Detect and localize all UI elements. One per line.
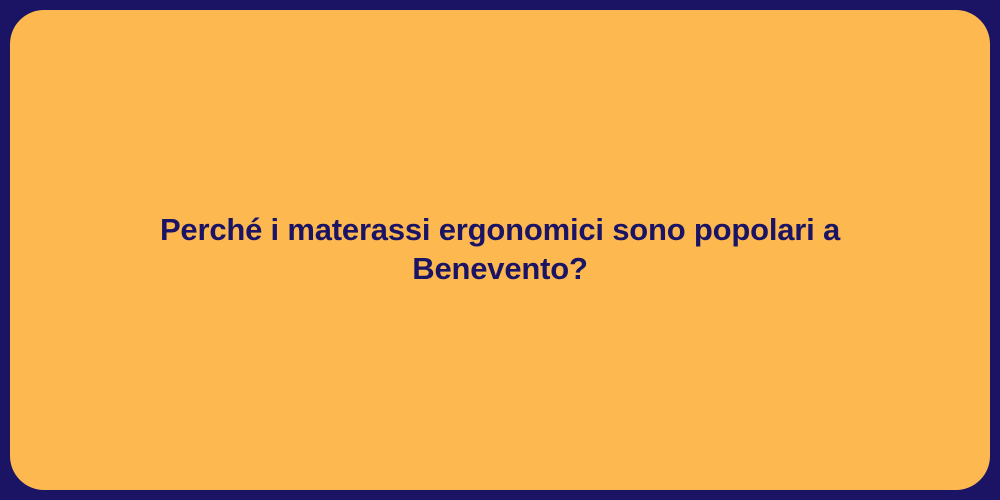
banner-headline: Perché i materassi ergonomici sono popol… — [10, 211, 990, 289]
banner-frame: Perché i materassi ergonomici sono popol… — [0, 0, 1000, 500]
banner-card: Perché i materassi ergonomici sono popol… — [10, 10, 990, 490]
